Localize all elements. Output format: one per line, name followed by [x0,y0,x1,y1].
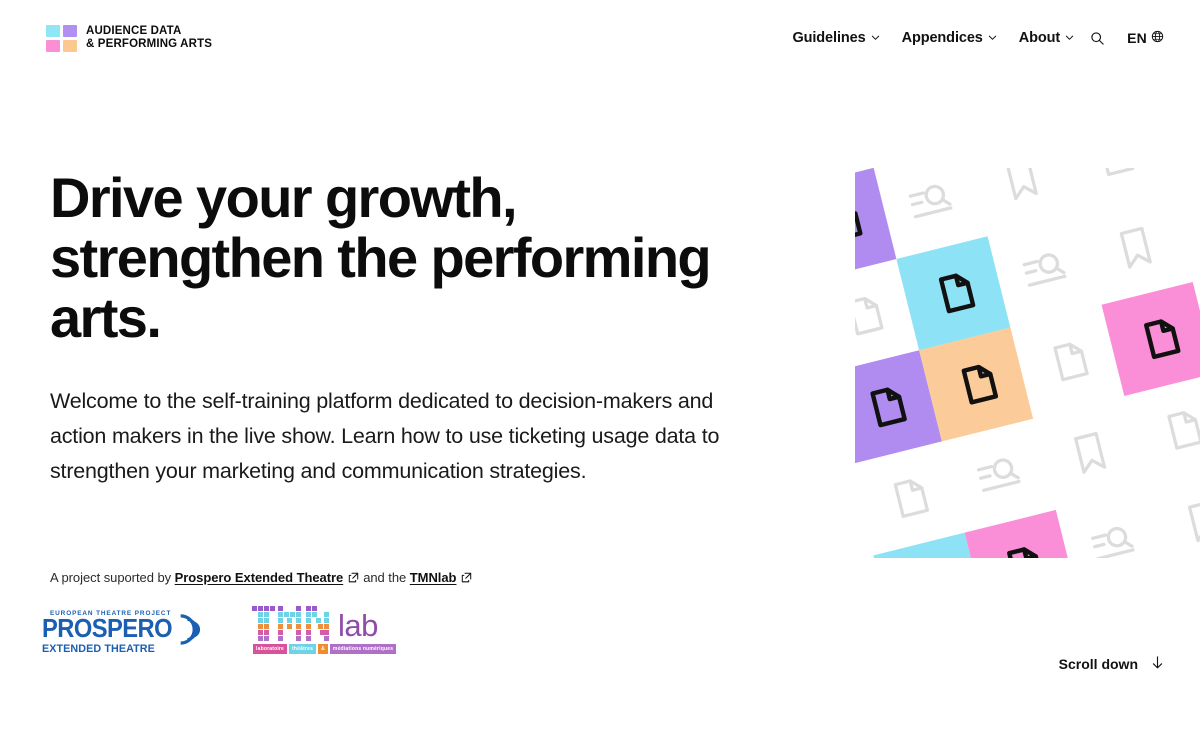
language-label: EN [1127,30,1147,46]
prospero-logo[interactable]: EUROPEAN THEATRE PROJECT PROSPERO EXTEND… [42,610,200,655]
hero-content: Drive your growth, strengthen the perfor… [50,168,750,489]
language-switcher[interactable]: EN [1127,30,1164,46]
tmnlab-lab-word: lab [338,610,378,641]
main-navigation: Guidelines Appendices About [792,30,1164,46]
tmnlab-pixel-wordmark [252,606,342,642]
tmnlab-link[interactable]: TMNlab [410,570,457,585]
prospero-wordmark-row: PROSPERO [42,617,200,642]
hero-description: Welcome to the self-training platform de… [50,384,740,489]
logo-text: AUDIENCE DATA & PERFORMING ARTS [86,25,212,52]
nav-item-appendices[interactable]: Appendices [902,30,997,46]
prospero-tagline-bottom: EXTENDED THEATRE [42,643,194,655]
tagline-part-3: & [318,644,328,654]
external-link-icon [461,571,472,582]
partner-logos: EUROPEAN THEATRE PROJECT PROSPERO EXTEND… [42,606,400,658]
search-icon[interactable] [1090,31,1105,46]
homepage-hero: AUDIENCE DATA & PERFORMING ARTS Guidelin… [0,0,1200,750]
credit-prefix: A project suported by [50,570,171,585]
chevron-down-icon [988,33,997,42]
tmnlab-tagline: laboratoire théâtres & médiations numéri… [253,644,396,654]
external-link-icon [348,571,359,582]
page-title: Drive your growth, strengthen the perfor… [50,168,750,348]
nav-item-guidelines-label: Guidelines [792,30,865,46]
scroll-down-button[interactable]: Scroll down [1059,655,1164,673]
chevron-down-icon [871,33,880,42]
tmnlab-logo[interactable]: lab laboratoire théâtres & médiations nu… [252,606,400,658]
project-credit: A project suported by Prospero Extended … [50,570,476,585]
chevron-down-icon [1065,33,1074,42]
illustration-rotated-grid [855,168,1200,558]
tagline-part-2: théâtres [289,644,316,654]
logo-line-1: AUDIENCE DATA [86,25,212,39]
arrow-down-icon [1151,655,1164,673]
scroll-down-label: Scroll down [1059,656,1138,672]
icon-tile-grid [855,168,1200,558]
nav-item-about[interactable]: About [1019,30,1074,46]
hero-illustration [855,168,1200,558]
nav-item-appendices-label: Appendices [902,30,983,46]
prospero-wordmark: PROSPERO [42,617,189,642]
nav-item-guidelines[interactable]: Guidelines [792,30,879,46]
logo-square-orange [63,40,77,52]
logo-square-purple [63,25,77,37]
nav-item-about-label: About [1019,30,1060,46]
site-header: AUDIENCE DATA & PERFORMING ARTS Guidelin… [0,0,1200,76]
credit-middle: and the [363,570,406,585]
tagline-part-1: laboratoire [253,644,287,654]
tagline-part-4: médiations numériques [330,644,396,654]
logo-square-pink [46,40,60,52]
logo-line-2: & PERFORMING ARTS [86,38,212,52]
logo-squares [46,25,77,52]
site-logo[interactable]: AUDIENCE DATA & PERFORMING ARTS [46,25,212,52]
logo-square-cyan [46,25,60,37]
prospero-link[interactable]: Prospero Extended Theatre [175,570,344,585]
globe-icon [1151,30,1164,46]
